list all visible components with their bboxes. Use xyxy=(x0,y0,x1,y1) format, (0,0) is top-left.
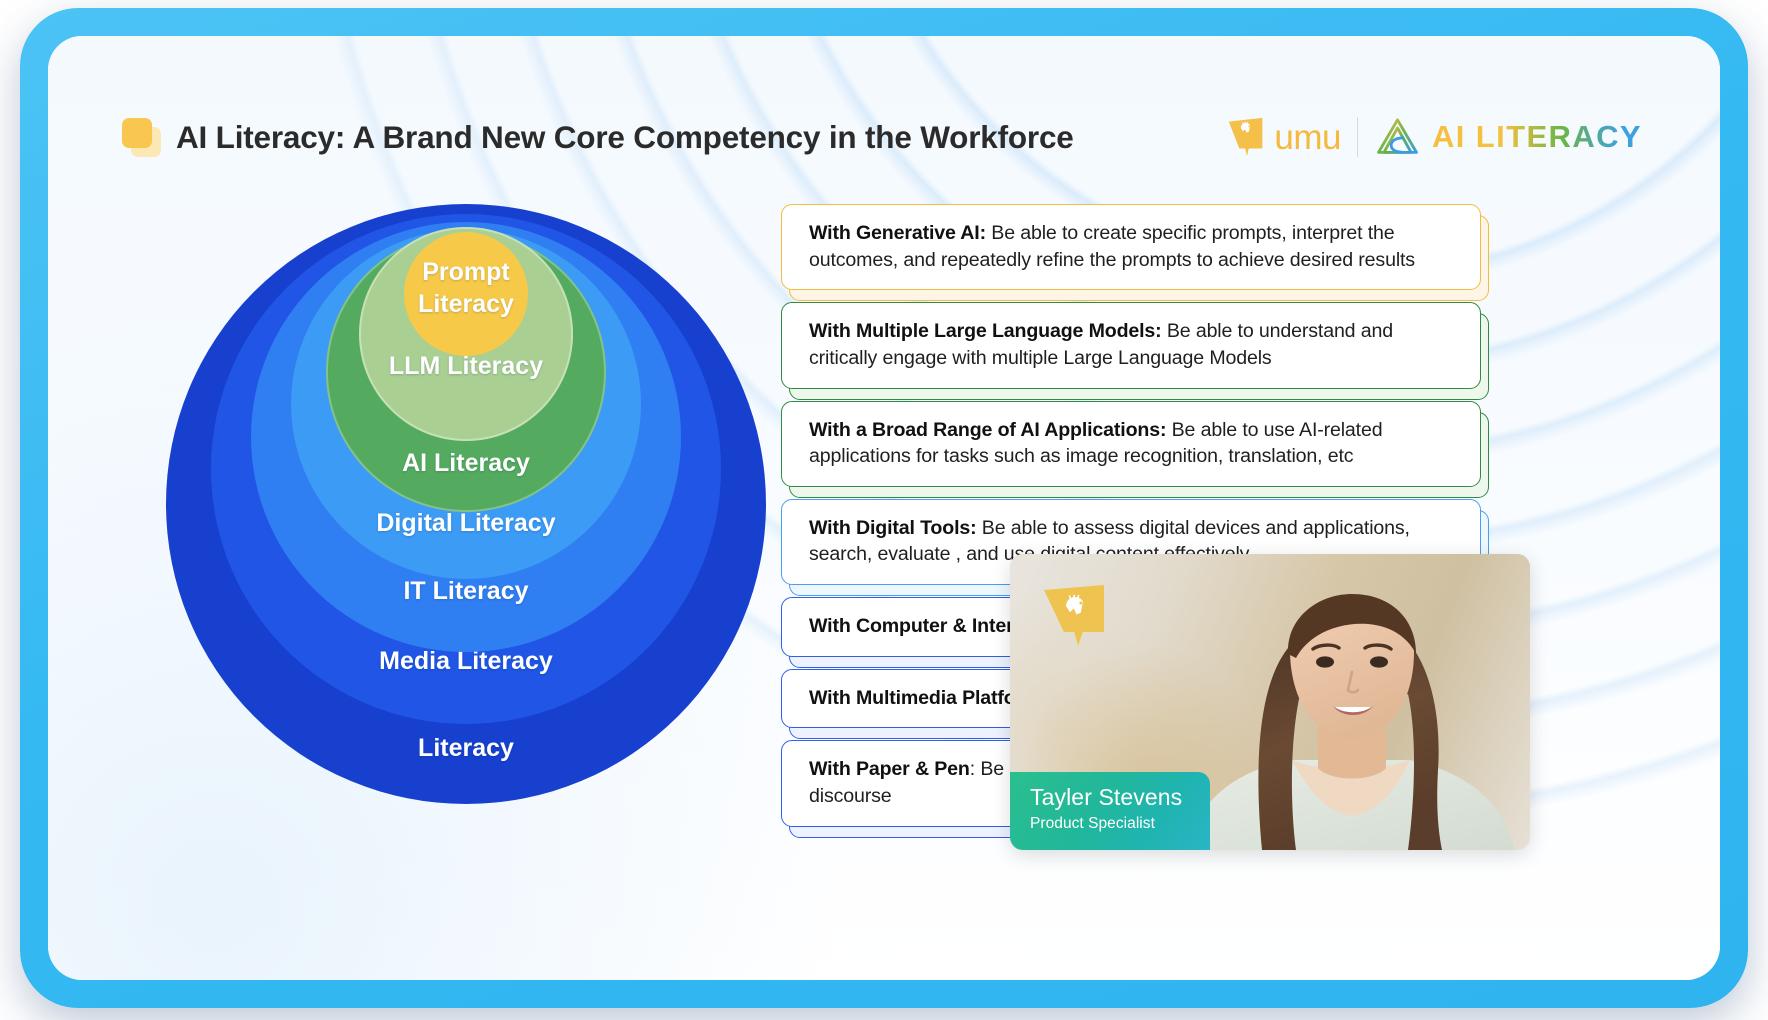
presenter-video-overlay[interactable]: Tayler Stevens Product Specialist xyxy=(1010,554,1530,850)
device-frame: AI Literacy: A Brand New Core Competency… xyxy=(20,8,1748,1008)
umu-giraffe-mark-icon xyxy=(1224,114,1270,160)
diagram-ring-label: LLM Literacy xyxy=(389,352,543,381)
presenter-video-icon xyxy=(1170,554,1530,850)
card-lead: With a Broad Range of AI Applications: xyxy=(809,419,1166,441)
card-lead: With Digital Tools: xyxy=(809,517,977,539)
card-body: With Multiple Large Language Models: Be … xyxy=(781,302,1481,388)
card-lead: With Paper & Pen xyxy=(809,758,970,780)
presenter-role: Product Specialist xyxy=(1030,815,1194,833)
competency-card[interactable]: With Multiple Large Language Models: Be … xyxy=(781,302,1481,388)
slide-header: AI Literacy: A Brand New Core Competency… xyxy=(122,106,1642,168)
umu-wordmark: umu xyxy=(1274,120,1341,155)
card-lead: With Generative AI: xyxy=(809,222,986,244)
diagram-ring-label: IT Literacy xyxy=(403,577,528,606)
card-body: With Generative AI: Be able to create sp… xyxy=(781,204,1481,290)
page-title: AI Literacy: A Brand New Core Competency… xyxy=(176,119,1074,156)
competency-card[interactable]: With Generative AI: Be able to create sp… xyxy=(781,204,1481,290)
diagram-ring-6: Prompt Literacy xyxy=(404,232,528,356)
diagram-ring-label: Literacy xyxy=(418,734,514,763)
slide-canvas: AI Literacy: A Brand New Core Competency… xyxy=(48,36,1720,980)
diagram-ring-label: AI Literacy xyxy=(402,449,530,478)
ai-literacy-wordmark: AI LITERACY xyxy=(1432,119,1642,155)
brand-lockup: umu xyxy=(1224,114,1642,160)
brand-divider xyxy=(1357,117,1358,157)
umu-logo: umu xyxy=(1224,114,1341,160)
presenter-name: Tayler Stevens xyxy=(1030,784,1194,812)
ai-literacy-triangle-icon xyxy=(1374,115,1421,159)
diagram-ring-label: Digital Literacy xyxy=(376,509,555,538)
competency-card[interactable]: With a Broad Range of AI Applications: B… xyxy=(781,401,1481,487)
stacked-squares-icon xyxy=(122,118,160,156)
umu-giraffe-watermark-icon xyxy=(1040,582,1144,650)
card-body: With a Broad Range of AI Applications: B… xyxy=(781,401,1481,487)
diagram-ring-label: Prompt Literacy xyxy=(411,256,521,320)
card-lead: With Multiple Large Language Models: xyxy=(809,320,1162,342)
nested-literacy-circles: LiteracyMedia LiteracyIT LiteracyDigital… xyxy=(166,204,766,804)
presenter-name-badge: Tayler Stevens Product Specialist xyxy=(1010,772,1210,850)
ai-literacy-logo: AI LITERACY xyxy=(1374,115,1642,159)
